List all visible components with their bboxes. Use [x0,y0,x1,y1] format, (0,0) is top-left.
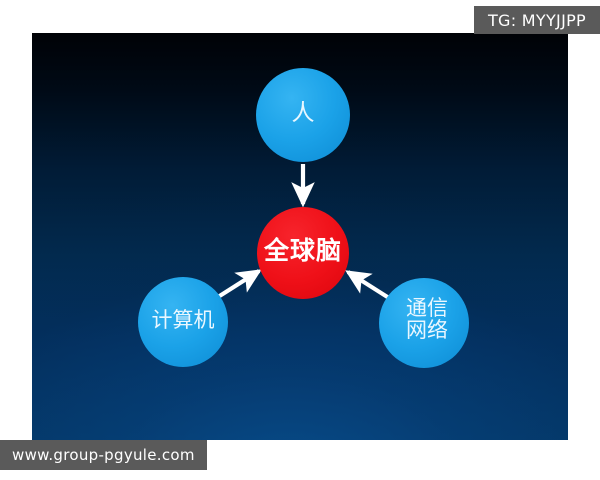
website-watermark-badge: www.group-pgyule.com [0,440,207,470]
node-circle-computer[interactable] [138,277,228,367]
diagram-canvas [32,33,568,440]
node-circle-global-brain[interactable] [257,207,349,299]
arrow-network-to-brain [348,272,389,298]
node-circle-person[interactable] [256,68,350,162]
telegram-watermark-badge: TG: MYYJJPP [474,6,600,34]
arrow-computer-to-brain [218,271,259,297]
node-circle-communication-network[interactable] [379,278,469,368]
slide-panel: 人 全球脑 计算机 通信 网络 [32,33,568,440]
